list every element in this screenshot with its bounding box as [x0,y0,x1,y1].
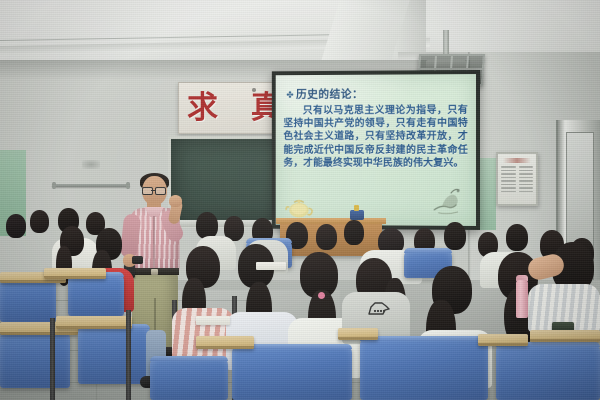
student-head [30,210,49,233]
hair-tie [318,292,325,299]
paper-sheet [256,262,286,270]
writing-tablet [44,268,106,279]
classroom-photo: 求 真 ✤历史的结论： 只有以马克思主义理论为指导，只有坚持中国共产党的领导，只… [0,0,600,400]
shirt-placket [153,216,155,268]
student-head [196,212,218,239]
lectern-object [350,210,364,220]
writing-tablet [196,336,254,349]
thermos-bottle [516,280,528,318]
writing-tablet [530,330,600,342]
paper-sheet [196,316,230,325]
lecture-seat [150,356,228,400]
dinosaur-print-icon [366,300,392,317]
notice-column [501,166,516,200]
wall-mark [82,160,100,169]
slide-title-line: ✤历史的结论： [286,86,363,102]
slide-body-text: 只有以马克思主义理论为指导，只有坚持中国共产党的领导，只有走有中国特色社会主义道… [283,104,468,170]
student-head [344,220,364,245]
lecture-seat [360,336,488,400]
seat-support-post [126,310,131,400]
right-window-panel [478,158,496,230]
notice-heading [503,158,531,163]
wall-notice-board [496,152,538,206]
student-head [506,224,528,251]
slide-title-text: 历史的结论： [296,88,363,101]
projection-screen-frame: ✤历史的结论： 只有以马克思主义理论为指导，只有坚持中国共产党的领导，只有走有中… [272,70,480,230]
student-head [6,214,26,238]
student-head [444,222,466,250]
projection-screen: ✤历史的结论： 只有以马克思主义理论为指导，只有坚持中国共产党的领导，只有走有中… [276,74,476,226]
slide-bullet-icon: ✤ [286,91,294,101]
writing-tablet [478,334,528,346]
notice-columns [501,166,533,200]
notice-column [519,166,534,200]
student-head [316,224,337,250]
presentation-clicker [132,256,143,264]
ink-brush-painting-icon [428,184,468,218]
lectern-small-object [354,205,359,211]
seat-support-post [50,318,55,400]
wall-fixing-dot [252,88,256,92]
eyeglasses-icon [142,187,166,193]
projector-mounting-pole [443,30,449,56]
writing-tablet [338,328,378,340]
lecture-seat [496,342,600,400]
lecturer-right-hand [169,195,182,207]
writing-tablet [56,316,132,329]
teapot-graphic-icon [285,195,314,219]
belt-buckle [151,269,158,275]
lecture-seat [232,344,352,400]
lecture-seat [0,330,70,388]
lecture-seat [78,324,150,384]
